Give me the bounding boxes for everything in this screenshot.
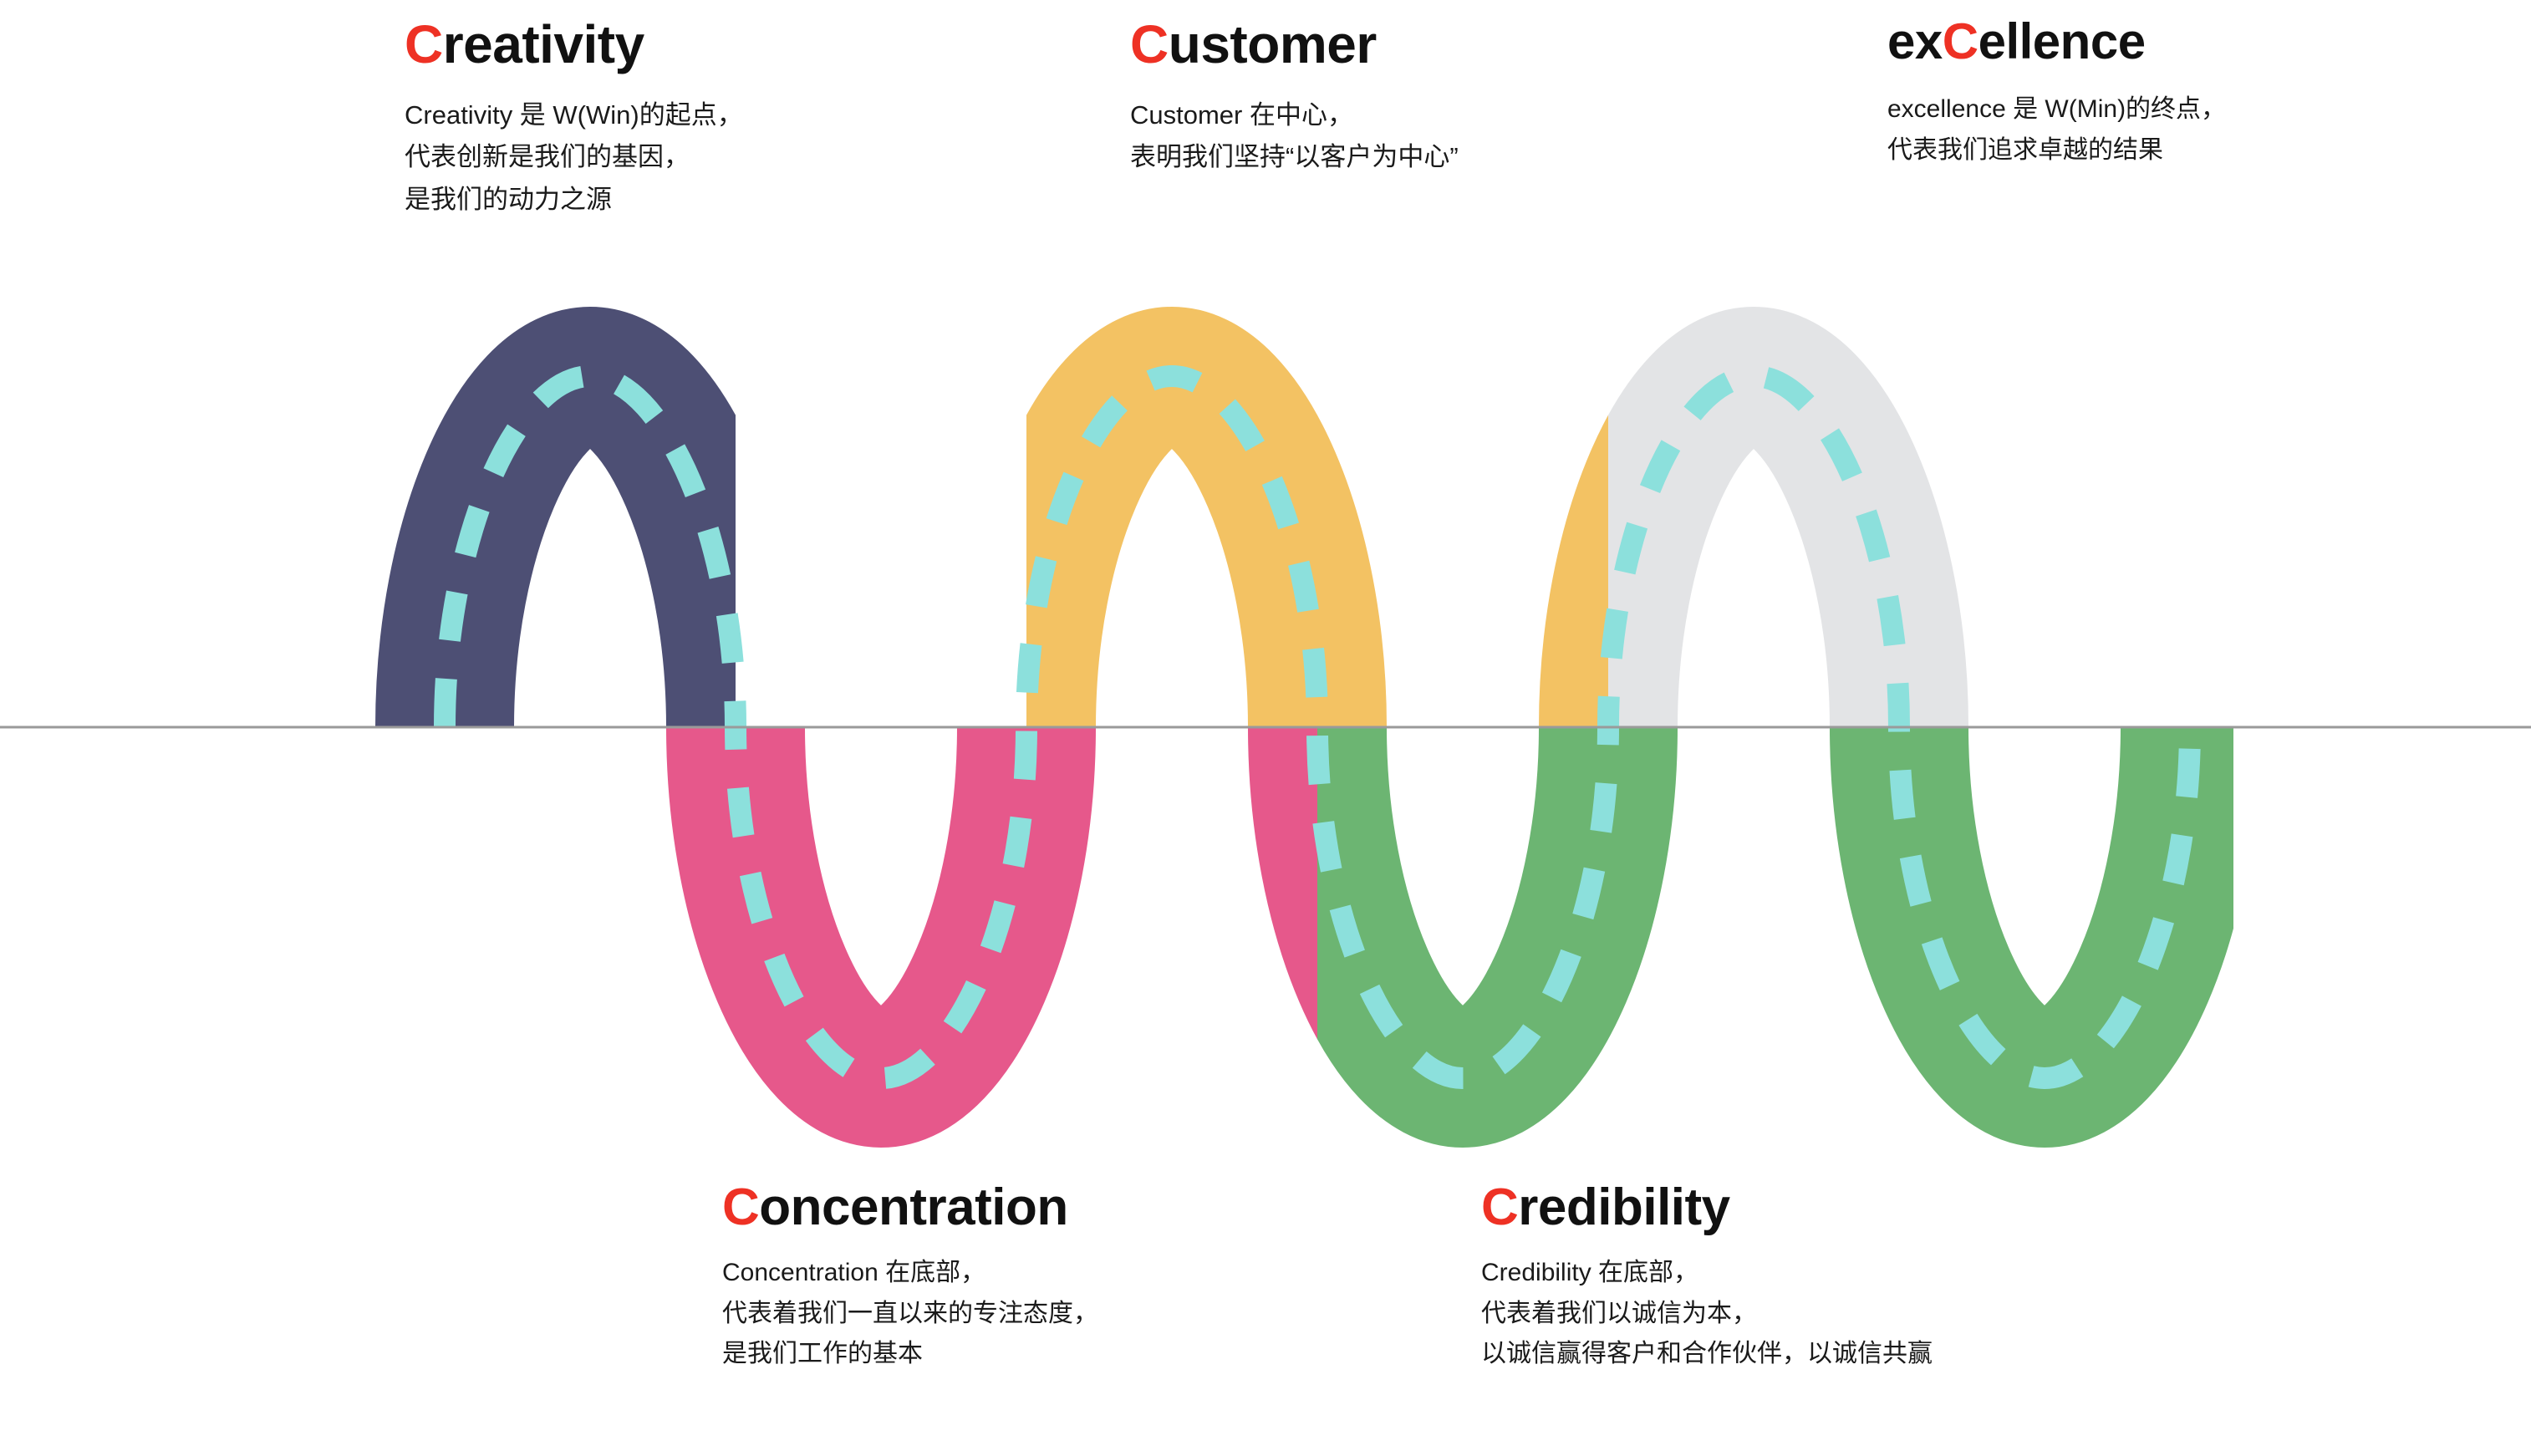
title-excellence: exCellence xyxy=(1887,15,2226,68)
block-credibility: Credibility Credibility 在底部， 代表着我们以诚信为本，… xyxy=(1481,1180,1933,1375)
desc-concentration: Concentration 在底部， 代表着我们一直以来的专注态度， 是我们工作… xyxy=(722,1253,1098,1375)
desc-line: 代表创新是我们的基因， xyxy=(405,136,743,178)
title-creativity: Creativity xyxy=(405,17,743,73)
title-credibility: Credibility xyxy=(1481,1180,1933,1235)
block-excellence: exCellence excellence 是 W(Min)的终点， 代表我们追… xyxy=(1887,15,2226,171)
desc-credibility: Credibility 在底部， 代表着我们以诚信为本， 以诚信赢得客户和合作伙… xyxy=(1481,1253,1933,1375)
desc-line: 是我们工作的基本 xyxy=(722,1334,1098,1375)
desc-line: Creativity 是 W(Win)的起点， xyxy=(405,94,743,136)
title-highlight-letter: C xyxy=(1943,13,1978,69)
desc-line: 是我们的动力之源 xyxy=(405,179,743,221)
block-creativity: Creativity Creativity 是 W(Win)的起点， 代表创新是… xyxy=(405,17,743,221)
desc-excellence: excellence 是 W(Min)的终点， 代表我们追求卓越的结果 xyxy=(1887,89,2226,171)
desc-line: 代表着我们一直以来的专注态度， xyxy=(722,1294,1098,1335)
title-suffix: ellence xyxy=(1978,13,2146,69)
title-highlight-letter: C xyxy=(1481,1179,1518,1236)
desc-line: 代表我们追求卓越的结果 xyxy=(1887,130,2226,171)
desc-line: excellence 是 W(Min)的终点， xyxy=(1887,89,2226,130)
desc-line: Credibility 在底部， xyxy=(1481,1253,1933,1294)
title-highlight-letter: C xyxy=(405,14,443,74)
title-suffix: ustomer xyxy=(1169,14,1377,74)
desc-line: Concentration 在底部， xyxy=(722,1253,1098,1294)
block-concentration: Concentration Concentration 在底部， 代表着我们一直… xyxy=(722,1180,1098,1375)
title-customer: Customer xyxy=(1130,17,1459,73)
desc-line: 表明我们坚持“以客户为中心” xyxy=(1130,136,1459,178)
title-suffix: redibility xyxy=(1518,1179,1729,1236)
title-prefix: ex xyxy=(1887,13,1943,69)
title-suffix: reativity xyxy=(443,14,644,74)
desc-line: Customer 在中心， xyxy=(1130,94,1459,136)
title-highlight-letter: C xyxy=(1130,14,1169,74)
desc-line: 以诚信赢得客户和合作伙伴，以诚信共赢 xyxy=(1481,1334,1933,1375)
desc-line: 代表着我们以诚信为本， xyxy=(1481,1294,1933,1335)
slide-canvas: Creativity Creativity 是 W(Win)的起点， 代表创新是… xyxy=(0,0,2531,1456)
wave-diagram xyxy=(0,0,2531,1456)
desc-customer: Customer 在中心， 表明我们坚持“以客户为中心” xyxy=(1130,94,1459,178)
desc-creativity: Creativity 是 W(Win)的起点， 代表创新是我们的基因， 是我们的… xyxy=(405,94,743,221)
title-highlight-letter: C xyxy=(722,1179,759,1236)
block-customer: Customer Customer 在中心， 表明我们坚持“以客户为中心” xyxy=(1130,17,1459,179)
title-suffix: oncentration xyxy=(759,1179,1067,1236)
title-concentration: Concentration xyxy=(722,1180,1098,1235)
